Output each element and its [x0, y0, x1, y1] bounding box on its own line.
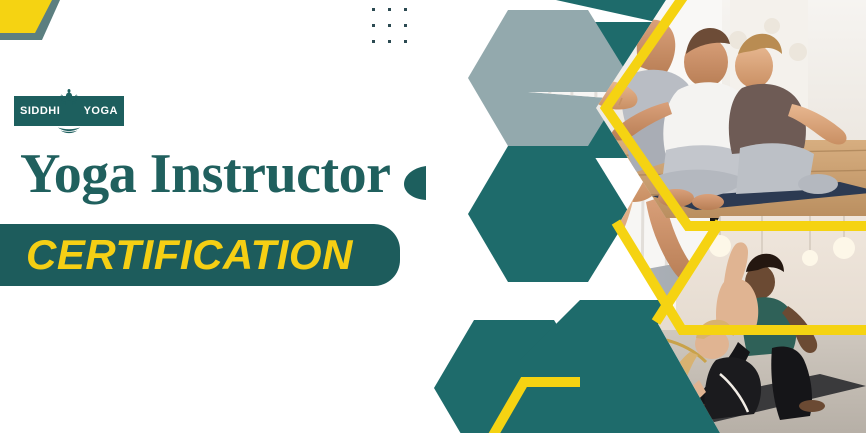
logo-right-word: YOGA: [84, 105, 118, 117]
dot: [388, 8, 391, 11]
yoga-figure-icon: [52, 86, 86, 136]
dot: [372, 8, 375, 11]
page-title: Yoga Instructor: [20, 146, 390, 202]
dot: [388, 40, 391, 43]
certification-label: CERTIFICATION: [26, 231, 353, 279]
dot: [404, 40, 407, 43]
dot: [372, 40, 375, 43]
yoga-certification-banner: SIDDHI YOGA Yoga Instructor CERTIFICATIO…: [0, 0, 866, 433]
photo-collage: [420, 0, 866, 433]
certification-banner: CERTIFICATION: [0, 224, 400, 286]
teal-accent-mark: [404, 166, 426, 200]
dot: [404, 8, 407, 11]
dot: [388, 24, 391, 27]
dot: [372, 24, 375, 27]
dot: [404, 24, 407, 27]
